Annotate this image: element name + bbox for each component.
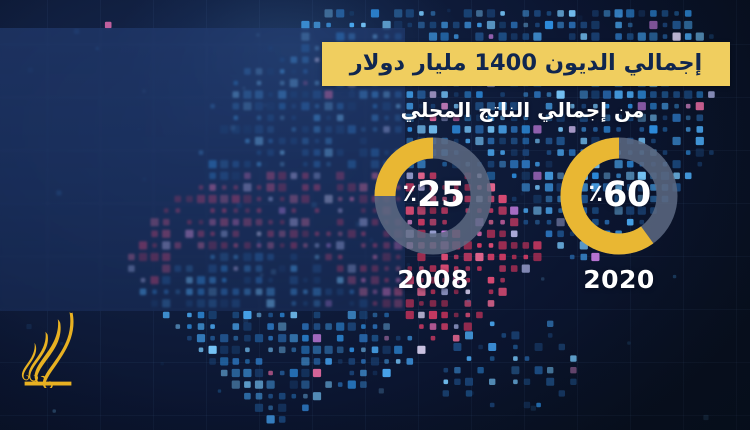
percent-symbol-2020: ٪ <box>588 179 603 207</box>
headline-banner: إجمالي الديون 1400 مليار دولار <box>322 42 730 86</box>
percent-symbol-2008: ٪ <box>402 179 417 207</box>
donut-chart-group: ٪25 2008 ٪60 2020 <box>326 132 726 307</box>
percent-value-2020: 60 <box>603 175 651 215</box>
headline-subtitle: من إجمالي الناتج المحلي <box>350 98 695 122</box>
headline-title: إجمالي الديون 1400 مليار دولار <box>350 52 703 77</box>
donut-2008: ٪25 <box>369 132 497 260</box>
donut-year-2008: 2008 <box>397 265 469 294</box>
al-jazeera-logo <box>12 310 84 388</box>
infographic-canvas: إجمالي الديون 1400 مليار دولار من إجمالي… <box>0 0 750 430</box>
donut-cell-2008: ٪25 2008 <box>353 132 513 294</box>
donut-value-2020: ٪60 <box>555 132 683 260</box>
donut-2020: ٪60 <box>555 132 683 260</box>
donut-value-2008: ٪25 <box>369 132 497 260</box>
donut-year-2020: 2020 <box>583 265 655 294</box>
percent-value-2008: 25 <box>417 175 465 215</box>
donut-cell-2020: ٪60 2020 <box>539 132 699 294</box>
